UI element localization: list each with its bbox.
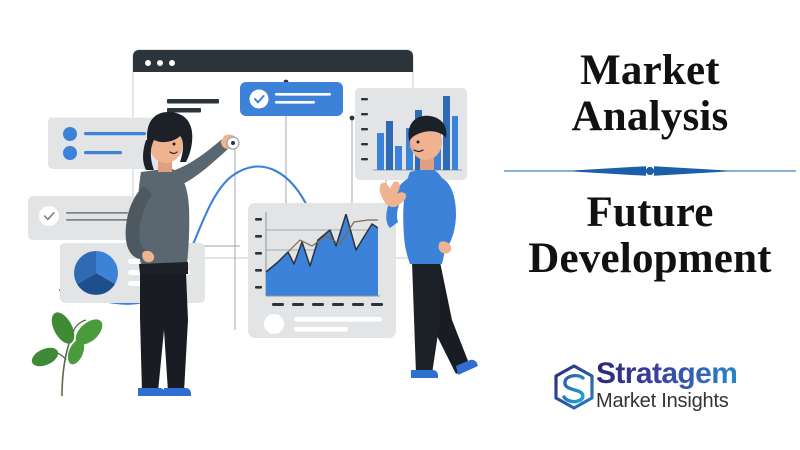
window-dots — [145, 60, 175, 66]
brand-logo[interactable]: Stratagem Market Insights — [548, 358, 788, 420]
data-analysis-illustration — [0, 0, 500, 450]
page-title-bottom: Future Development — [500, 190, 800, 281]
hexagon-s-icon — [548, 362, 600, 414]
list-bullet-icon — [63, 146, 77, 160]
pie-chart — [74, 251, 118, 295]
page-title-top: Market Analysis — [500, 48, 800, 139]
logo-text: Stratagem Market Insights — [596, 358, 786, 413]
headline-line-4: Development — [500, 236, 800, 282]
headline-line-2: Analysis — [500, 94, 800, 140]
ornamental-divider — [504, 160, 796, 182]
headline-line-3: Future — [500, 190, 800, 236]
avatar — [264, 314, 284, 334]
logo-wordmark: Stratagem — [596, 358, 786, 390]
banner-card — [240, 82, 343, 116]
list-bullet-icon — [63, 127, 77, 141]
plant-sprig — [29, 309, 107, 396]
banner-root: Market Analysis Future Development — [0, 0, 800, 450]
headline-line-1: Market — [500, 48, 800, 94]
area-chart-card — [248, 203, 396, 338]
logo-tagline: Market Insights — [596, 390, 786, 413]
